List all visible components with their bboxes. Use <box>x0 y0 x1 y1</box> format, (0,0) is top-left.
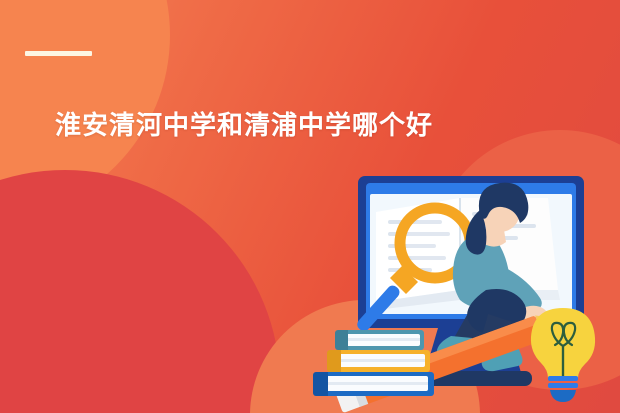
study-search-illustration <box>310 168 620 413</box>
yellow-book <box>327 350 430 372</box>
article-banner: 淮安清河中学和清浦中学哪个好 <box>0 0 620 413</box>
stacked-books <box>313 330 434 396</box>
decorative-rule <box>25 51 92 56</box>
blue-book <box>313 372 434 396</box>
page-title: 淮安清河中学和清浦中学哪个好 <box>55 108 433 142</box>
lightbulb-base <box>548 376 578 402</box>
teal-book <box>335 330 424 350</box>
idea-lightbulb <box>531 308 595 402</box>
